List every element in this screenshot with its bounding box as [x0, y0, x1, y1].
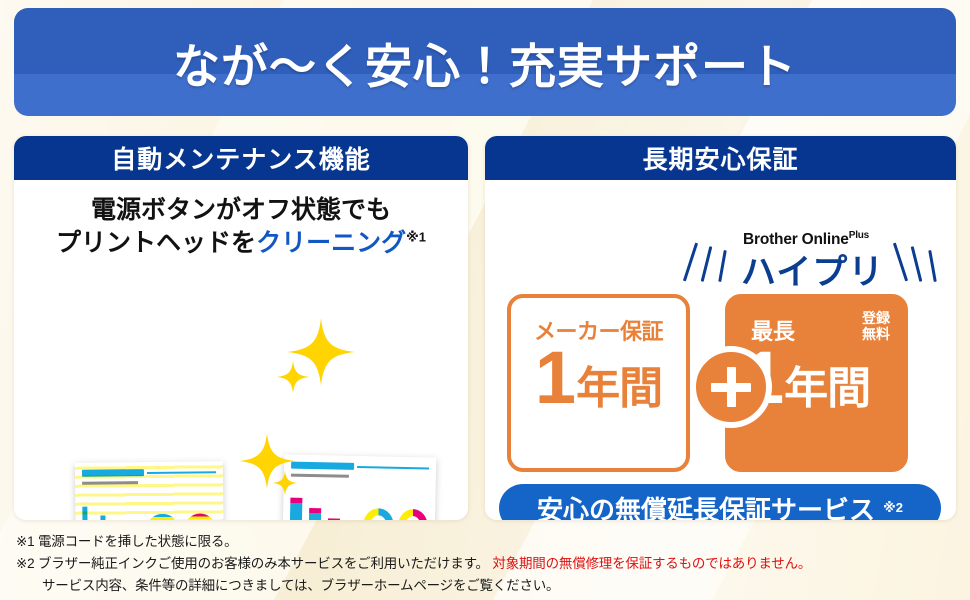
footnotes: ※1 電源コードを挿した状態に限る。 ※2 ブラザー純正インクご使用のお客様のみ… — [16, 531, 946, 597]
panel-left-header: 自動メンテナンス機能 — [14, 136, 468, 180]
plus-circle-icon — [690, 346, 772, 428]
logo-slash-r1 — [893, 243, 908, 282]
footnote-2-black: ※2 ブラザー純正インクご使用のお客様のみ本サービスをご利用いただけます。 — [16, 556, 489, 571]
cta-label: 安心の無償延長保証サービス — [537, 490, 875, 521]
free-badge-line2: 無料 — [862, 327, 890, 343]
doc-before-title-bar — [82, 469, 144, 477]
footnote-2-red: 対象期間の無償修理を保証するものではありません。 — [492, 556, 811, 571]
panel-left-header-title: 自動メンテナンス機能 — [111, 140, 371, 176]
footnote-3: サービス内容、条件等の詳細につきましては、ブラザーホームページをご覧ください。 — [16, 575, 946, 597]
lead-line-1: 電源ボタンがオフ状態でも — [14, 194, 468, 227]
document-before-cleaning: 80% 60% — [75, 461, 225, 520]
doc-after-title-rule — [358, 465, 430, 468]
logo-slash-l2 — [701, 246, 713, 282]
warranty-left-number: 1 — [535, 344, 576, 412]
logo-service-name: ハイプリ — [741, 244, 884, 295]
lead-line-2-note: ※1 — [406, 230, 426, 245]
free-badge-line1: 登録 — [862, 311, 890, 327]
panel-long-term-warranty: 長期安心保証 Brother OnlinePlus ハイプリ メーカー保証 1 … — [485, 136, 956, 520]
doc-before-bar-chart — [82, 494, 142, 520]
logo-slash-r2 — [911, 246, 923, 282]
sparkle-icon-top-right — [286, 317, 356, 387]
doc-after-subtitle — [291, 474, 349, 478]
logo-plus-sup: Plus — [849, 230, 869, 241]
logo-slash-r3 — [928, 250, 937, 282]
extended-warranty-service-button[interactable]: 安心の無償延長保証サービス ※2 — [499, 484, 941, 520]
lead-line-2-accent: クリーニング — [256, 229, 406, 257]
logo-slash-l3 — [718, 250, 727, 282]
warranty-right-unit: 年間 — [784, 352, 870, 416]
doc-before-subtitle — [82, 481, 138, 485]
panel-right-header-title: 長期安心保証 — [642, 140, 798, 176]
warranty-boxes: メーカー保証 1 年間 登録 無料 最長 1 年間 — [507, 294, 937, 472]
footnote-1: ※1 電源コードを挿した状態に限る。 — [16, 531, 946, 553]
document-after-cleaning: 80% 60% — [280, 454, 437, 520]
doc-after-donut-1: 80% — [362, 508, 393, 520]
warranty-left-unit: 年間 — [576, 352, 662, 416]
doc-before-title-rule — [147, 471, 216, 474]
logo-slash-l1 — [683, 243, 698, 282]
document-after-content: 80% 60% — [287, 462, 429, 520]
lead-line-2-plain: プリントヘッドを — [56, 229, 256, 257]
warranty-box-manufacturer: メーカー保証 1 年間 — [507, 294, 690, 472]
warranty-left-duration: 1 年間 — [511, 344, 686, 416]
header-banner: なが〜く安心！充実サポート — [14, 8, 956, 116]
panel-right-header: 長期安心保証 — [485, 136, 956, 180]
panel-auto-maintenance: 自動メンテナンス機能 電源ボタンがオフ状態でも プリントヘッドをクリーニング※1 — [14, 136, 468, 520]
panel-left-body: 電源ボタンがオフ状態でも プリントヘッドをクリーニング※1 — [14, 180, 468, 520]
doc-after-donut-2: 60% — [397, 509, 428, 520]
panel-right-body: Brother OnlinePlus ハイプリ メーカー保証 1 年間 登録 無… — [485, 180, 956, 520]
doc-before-donut-1: 80% — [145, 514, 179, 520]
maintenance-lead-text: 電源ボタンがオフ状態でも プリントヘッドをクリーニング※1 — [14, 180, 468, 260]
lead-line-2: プリントヘッドをクリーニング※1 — [14, 227, 468, 260]
doc-after-bar-chart — [289, 487, 359, 520]
footnote-2: ※2 ブラザー純正インクご使用のお客様のみ本サービスをご利用いただけます。 対象… — [16, 553, 946, 575]
cta-note: ※2 — [883, 500, 903, 516]
doc-before-donut-2: 60% — [183, 513, 217, 520]
hiplus-logo: Brother OnlinePlus ハイプリ — [683, 230, 941, 292]
sparkle-icon-small-right — [276, 360, 310, 394]
document-before-content: 80% 60% — [82, 468, 218, 520]
doc-after-title-bar — [291, 462, 355, 470]
banner-title: なが〜く安心！充実サポート — [173, 28, 797, 97]
